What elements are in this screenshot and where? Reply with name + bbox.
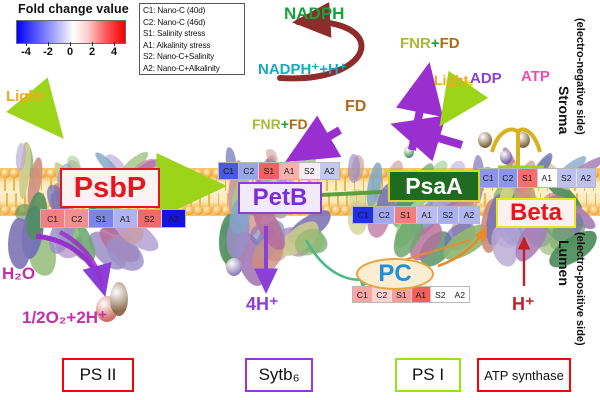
- label-fnr-fd-mid: FNR+FD: [252, 116, 308, 132]
- label-nadph-h: NADPH⁺+H⁺: [258, 60, 347, 78]
- lipid-head: [185, 169, 194, 178]
- heatmap-cell-psbp-c1: C1: [41, 210, 65, 227]
- heatmap-cell-pc-a1: A1: [412, 287, 432, 302]
- heatmap-row-psaa: C1C2S1A1S2A2: [352, 206, 480, 224]
- heatmap-cell-psaa-a2: A2: [459, 207, 479, 223]
- lipid-head: [1, 169, 10, 178]
- lipid-tail: [170, 177, 172, 191]
- label-adp: ADP: [470, 70, 502, 87]
- plus-text-top: +: [431, 35, 440, 52]
- fnr-text-top: FNR: [400, 35, 431, 52]
- lipid-tail: [13, 177, 15, 191]
- lipid-head: [185, 206, 194, 215]
- label-four-h-plus: 4H⁺: [246, 294, 279, 315]
- ps2-text: PS II: [80, 365, 117, 385]
- lipid-tail: [216, 177, 218, 191]
- heatmap-cell-petb-a1: A1: [280, 163, 300, 179]
- lipid-tail: [197, 177, 199, 191]
- side-label-stroma-line2: (electro-negative side): [574, 18, 586, 135]
- cofactor-sphere: [516, 132, 530, 148]
- heatmap-cell-petb-s2: S2: [300, 163, 320, 179]
- lipid-head: [590, 206, 599, 215]
- heatmap-cell-psbp-a1: A1: [114, 210, 138, 227]
- key-item-c2: C2: Nano-C (46d): [143, 17, 241, 29]
- heatmap-row-beta: C1C2S1A1S2A2: [478, 168, 596, 188]
- heatmap-cell-petb-a2: A2: [320, 163, 339, 179]
- psbp-text: PsbP: [74, 172, 147, 205]
- heatmap-cell-pc-c1: C1: [353, 287, 373, 302]
- lipid-head: [1, 206, 10, 215]
- heatmap-cell-psaa-c1: C1: [353, 207, 374, 223]
- complex-label-atp-synthase[interactable]: ATP synthase: [477, 358, 571, 392]
- heatmap-row-petb: C1C2S1A1S2A2: [218, 162, 340, 180]
- label-water: H₂O: [2, 264, 35, 284]
- diagram-canvas: Fold change value -4-2024 C1: Nano-C (40…: [0, 0, 600, 400]
- heatmap-cell-psbp-s1: S1: [89, 210, 113, 227]
- heatmap-cell-psbp-c2: C2: [65, 210, 89, 227]
- heatmap-cell-psaa-s1: S1: [395, 207, 416, 223]
- heatmap-cell-psaa-a1: A1: [417, 207, 438, 223]
- heatmap-cell-petb-c2: C2: [239, 163, 259, 179]
- lipid-tail: [363, 177, 365, 191]
- heatmap-cell-pc-a2: A2: [451, 287, 470, 302]
- label-light-right: Light: [434, 72, 468, 88]
- lipid-head: [203, 206, 212, 215]
- cofactor-sphere: [404, 146, 414, 158]
- protein-label-psbp[interactable]: PsbP: [60, 168, 160, 208]
- sample-key-box: C1: Nano-C (40d) C2: Nano-C (46d) S1: Sa…: [139, 3, 245, 75]
- protein-label-petb[interactable]: PetB: [238, 182, 322, 214]
- protein-label-beta[interactable]: Beta: [496, 198, 576, 228]
- fnr-text-mid: FNR: [252, 116, 281, 132]
- cofactor-sphere: [500, 150, 512, 164]
- cofactor-sphere: [478, 132, 492, 148]
- heatmap-cell-petb-s1: S1: [259, 163, 279, 179]
- label-oxygen: 1/2O₂+2H⁺: [22, 308, 107, 328]
- key-item-s1: S1: Salinity stress: [143, 28, 241, 40]
- heatmap-cell-beta-a2: A2: [577, 169, 596, 187]
- label-fd: FD: [345, 98, 366, 116]
- lipid-tail: [179, 177, 181, 191]
- heatmap-cell-psaa-c2: C2: [374, 207, 395, 223]
- fd-text-mid: FD: [289, 116, 308, 132]
- lipid-head: [194, 206, 203, 215]
- sytb6-text: Sytb₆: [259, 365, 300, 385]
- heatmap-cell-petb-c1: C1: [219, 163, 239, 179]
- psaa-text: PsaA: [405, 173, 463, 200]
- cofactor-sphere: [110, 282, 128, 316]
- side-label-lumen-line1: Lumen: [556, 240, 572, 286]
- colorbar-tick-label: -2: [40, 46, 56, 58]
- protein-label-pc[interactable]: PC: [356, 258, 434, 290]
- key-item-a1: A1: Alkalinity stress: [143, 40, 241, 52]
- colorbar-tick-labels: -4-2024: [10, 46, 132, 62]
- complex-label-ps2[interactable]: PS II: [62, 358, 134, 392]
- heatmap-cell-psbp-s2: S2: [138, 210, 162, 227]
- colorbar-tick-label: 4: [106, 46, 122, 58]
- heatmap-row-psbp: C1C2S1A1S2A2: [40, 209, 186, 228]
- complex-label-ps1[interactable]: PS I: [395, 358, 461, 392]
- heatmap-cell-psbp-a2: A2: [162, 210, 185, 227]
- label-nadph: NADPH: [284, 4, 344, 24]
- label-fnr-fd-top: FNR+FD: [400, 35, 460, 52]
- colorbar-tick-label: 2: [84, 46, 100, 58]
- lipid-tail: [4, 177, 6, 191]
- ps1-text: PS I: [412, 365, 444, 385]
- key-item-s2: S2: Nano-C+Salinity: [143, 51, 241, 63]
- label-light-left: Light: [6, 88, 43, 105]
- lipid-tail: [206, 177, 208, 191]
- heatmap-cell-psaa-s2: S2: [438, 207, 459, 223]
- cofactor-sphere: [226, 258, 242, 276]
- atp-synthase-text: ATP synthase: [484, 368, 564, 383]
- side-label-lumen-line2: (electro-positive side): [574, 232, 586, 346]
- key-item-a2: A2: Nano-C+Alkalinity: [143, 63, 241, 75]
- heatmap-cell-beta-a1: A1: [538, 169, 558, 187]
- pc-text: PC: [378, 260, 411, 288]
- label-atp: ATP: [521, 68, 550, 85]
- heatmap-cell-beta-c2: C2: [499, 169, 519, 187]
- lipid-head: [176, 169, 185, 178]
- protein-ribbon-blob: [348, 154, 360, 183]
- lipid-head: [213, 206, 222, 215]
- lipid-head: [194, 169, 203, 178]
- colorbar-tick-label: 0: [62, 46, 78, 58]
- petb-text: PetB: [253, 184, 308, 212]
- heatmap-cell-beta-s2: S2: [557, 169, 577, 187]
- lipid-head: [203, 169, 212, 178]
- key-item-c1: C1: Nano-C (40d): [143, 5, 241, 17]
- heatmap-cell-beta-c1: C1: [479, 169, 499, 187]
- complex-label-sytb6[interactable]: Sytb₆: [245, 358, 313, 392]
- side-label-stroma-line1: Stroma: [556, 86, 572, 134]
- beta-text: Beta: [510, 199, 562, 227]
- heatmap-cell-beta-s1: S1: [518, 169, 538, 187]
- fd-text-top: FD: [440, 35, 460, 52]
- lipid-tail: [344, 177, 346, 191]
- protein-label-psaa[interactable]: PsaA: [388, 170, 480, 202]
- label-h-plus: H⁺: [512, 294, 535, 315]
- lipid-head: [332, 206, 341, 215]
- heatmap-cell-pc-s2: S2: [431, 287, 451, 302]
- plus-text-mid: +: [281, 116, 289, 132]
- lipid-tail: [188, 177, 190, 191]
- colorbar-tick-label: -4: [18, 46, 34, 58]
